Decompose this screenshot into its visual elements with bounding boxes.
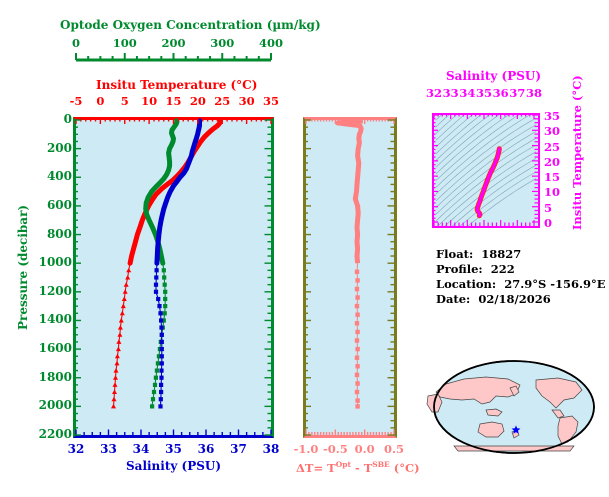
tick-label: 100	[109, 36, 141, 50]
tick-label: 35	[255, 94, 287, 108]
ts-temp-tick-label: 30	[544, 124, 560, 138]
delta-temperature-ticks	[292, 110, 410, 450]
ts-diagram-ticks	[424, 106, 552, 238]
ts-temp-tick-label: 10	[544, 185, 560, 199]
temperature-tick-labels: -505101520253035	[73, 94, 274, 108]
ts-salinity-tick-labels: 32333435363738	[427, 86, 545, 100]
date-label: Date:	[436, 292, 470, 306]
pressure-tick-label: 2000	[39, 398, 72, 412]
superscript: SBE	[372, 460, 389, 469]
tick-label: 0	[60, 36, 92, 50]
text: ΔT= T	[296, 461, 336, 475]
superscript: Opt	[336, 460, 351, 469]
delta-tick-labels: -1.0-0.50.00.5	[288, 442, 412, 456]
pressure-tick-label: 400	[47, 169, 72, 183]
profile-label: Profile:	[436, 262, 483, 276]
tick-label: 34	[125, 442, 157, 456]
location-value: 27.9°S -156.9°E	[504, 277, 605, 291]
tick-label: 32	[60, 442, 92, 456]
metadata-block: Float: 18827 Profile: 222 Location: 27.9…	[436, 247, 606, 307]
tick-label: 38	[518, 86, 550, 100]
oxygen-tick-labels: 0100200300400	[73, 36, 274, 50]
delta-tick-label: -0.5	[319, 442, 351, 456]
ts-temp-tick-label: 25	[544, 140, 560, 154]
main-profile-ticks	[60, 110, 290, 450]
tick-label: 200	[158, 36, 190, 50]
profile-value: 222	[491, 262, 515, 276]
pressure-tick-label: 0	[64, 112, 72, 126]
tick-label: 33	[93, 442, 125, 456]
date-row: Date: 02/18/2026	[436, 292, 606, 307]
location-label: Location:	[436, 277, 496, 291]
pressure-tick-label: 800	[47, 227, 72, 241]
pressure-tick-label: 1400	[39, 312, 72, 326]
tick-label: 38	[255, 442, 287, 456]
ts-temp-tick-label: 20	[544, 155, 560, 169]
pressure-tick-label: 1800	[39, 370, 72, 384]
date-value: 02/18/2026	[478, 292, 550, 306]
float-value: 18827	[481, 247, 521, 261]
delta-tick-label: 0.0	[349, 442, 381, 456]
profile-row: Profile: 222	[436, 262, 606, 277]
tick-label: 400	[255, 36, 287, 50]
world-map	[424, 352, 604, 462]
tick-label: 36	[190, 442, 222, 456]
text: - T	[351, 461, 372, 475]
pressure-tick-label: 600	[47, 198, 72, 212]
salinity-tick-labels: 32333435363738	[73, 442, 274, 456]
pressure-tick-label: 200	[47, 141, 72, 155]
pressure-tick-label: 2200	[39, 427, 72, 441]
pressure-tick-label: 1600	[39, 341, 72, 355]
text: (°C)	[390, 461, 420, 475]
tick-label: 37	[223, 442, 255, 456]
float-label: Float:	[436, 247, 473, 261]
tick-label: 300	[206, 36, 238, 50]
pressure-tick-label: 1200	[39, 284, 72, 298]
ts-temp-tick-label: 0	[544, 216, 552, 230]
pressure-tick-labels: 0200400600800100012001400160018002000220…	[28, 110, 72, 445]
ts-salinity-title: Salinity (PSU)	[446, 69, 541, 83]
pressure-tick-label: 1000	[39, 255, 72, 269]
delta-axis-title: ΔT= TOpt - TSBE (°C)	[296, 460, 420, 475]
oxygen-axis-line	[73, 52, 274, 62]
pressure-axis-label: Pressure (decibar)	[16, 205, 30, 330]
oxygen-axis-title: Optode Oxygen Concentration (µm/kg)	[60, 18, 321, 32]
temperature-axis-title: Insitu Temperature (°C)	[96, 78, 257, 92]
float-row: Float: 18827	[436, 247, 606, 262]
ts-temp-tick-label: 35	[544, 109, 560, 123]
ts-temperature-tick-labels: 05101520253035	[544, 108, 564, 232]
location-row: Location: 27.9°S -156.9°E	[436, 277, 606, 292]
tick-label: 35	[158, 442, 190, 456]
delta-tick-label: 0.5	[378, 442, 410, 456]
ts-temp-tick-label: 15	[544, 170, 560, 184]
ts-temp-tick-label: 5	[544, 201, 552, 215]
ts-temperature-axis-label: Insitu Temperature (°C)	[570, 75, 584, 230]
delta-tick-label: -1.0	[290, 442, 322, 456]
salinity-axis-title: Salinity (PSU)	[126, 459, 221, 473]
